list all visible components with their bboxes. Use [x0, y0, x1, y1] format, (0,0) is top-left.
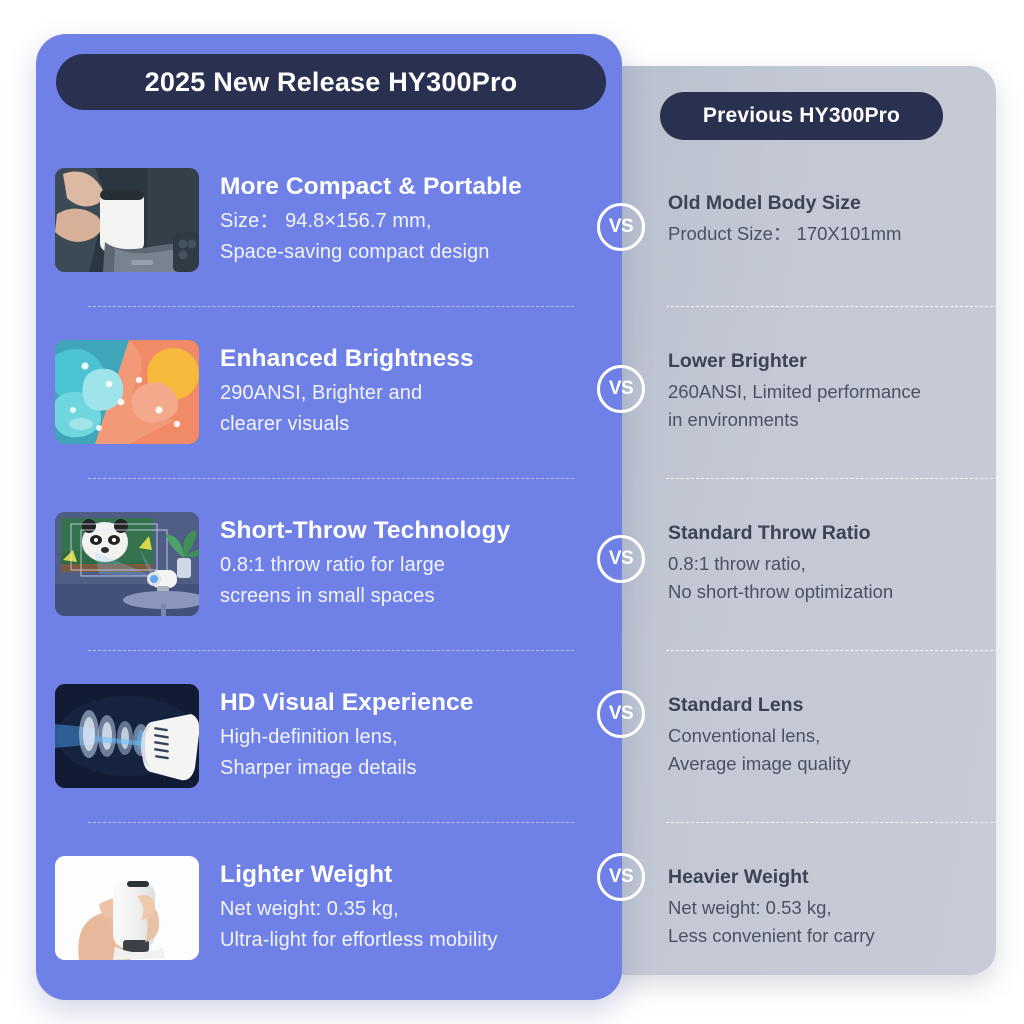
old-row-title: Standard Lens	[668, 694, 988, 717]
previous-model-badge: Previous HY300Pro	[660, 92, 943, 140]
new-row-title: HD Visual Experience	[220, 688, 473, 717]
vs-badge-5: VS	[597, 853, 645, 901]
new-row-text: Enhanced Brightness 290ANSI, Brighter an…	[199, 344, 474, 440]
new-row-line-2: Space-saving compact design	[220, 237, 522, 268]
lens-exploded-view-photo	[55, 684, 199, 788]
old-row-weight: Heavier Weight Net weight: 0.53 kg, Less…	[668, 822, 988, 994]
new-model-badge: 2025 New Release HY300Pro	[56, 54, 606, 110]
vs-badge-label: VS	[609, 216, 633, 238]
colorful-glossy-flowers-photo	[55, 340, 199, 444]
old-row-title: Lower Brighter	[668, 350, 988, 373]
old-row-throw-ratio: Standard Throw Ratio 0.8:1 throw ratio, …	[668, 478, 988, 650]
new-row-text: More Compact & Portable Size： 94.8×156.7…	[199, 172, 522, 268]
vs-badge-3: VS	[597, 535, 645, 583]
new-row-title: Lighter Weight	[220, 860, 498, 889]
new-row-title: Enhanced Brightness	[220, 344, 474, 373]
new-row-text: Short-Throw Technology 0.8:1 throw ratio…	[199, 516, 510, 612]
projector-panda-projection-photo	[55, 512, 199, 616]
old-row-body-size: Old Model Body Size Product Size： 170X10…	[668, 134, 988, 306]
old-row-brightness: Lower Brighter 260ANSI, Limited performa…	[668, 306, 988, 478]
new-row-line-2: screens in small spaces	[220, 581, 510, 612]
new-row-text: Lighter Weight Net weight: 0.35 kg, Ultr…	[199, 860, 498, 956]
new-row-compact: More Compact & Portable Size： 94.8×156.7…	[36, 134, 622, 306]
old-row-line-1: Product Size： 170X101mm	[668, 220, 988, 248]
previous-model-rows: Old Model Body Size Product Size： 170X10…	[668, 134, 988, 994]
new-row-line-2: Sharper image details	[220, 753, 473, 784]
old-row-line-1: Conventional lens,	[668, 722, 988, 750]
new-row-weight: Lighter Weight Net weight: 0.35 kg, Ultr…	[36, 822, 622, 994]
old-row-line-1: Net weight: 0.53 kg,	[668, 894, 988, 922]
old-row-line-1: 260ANSI, Limited performance	[668, 378, 988, 406]
vs-badge-label: VS	[609, 866, 633, 888]
hand-holding-projector-photo	[55, 856, 199, 960]
comparison-infographic: Previous HY300Pro Old Model Body Size Pr…	[0, 0, 1024, 1024]
old-row-line-1: 0.8:1 throw ratio,	[668, 550, 988, 578]
old-row-title: Standard Throw Ratio	[668, 522, 988, 545]
old-row-title: Old Model Body Size	[668, 192, 988, 215]
new-model-rows: More Compact & Portable Size： 94.8×156.7…	[36, 134, 622, 994]
new-row-line-2: clearer visuals	[220, 409, 474, 440]
previous-model-badge-label: Previous HY300Pro	[703, 104, 900, 128]
old-row-line-2: Average image quality	[668, 750, 988, 778]
vs-badge-label: VS	[609, 703, 633, 725]
new-row-line-1: Net weight: 0.35 kg,	[220, 894, 498, 925]
new-row-line-1: High-definition lens,	[220, 722, 473, 753]
old-row-line-2: No short-throw optimization	[668, 578, 988, 606]
vs-badge-label: VS	[609, 548, 633, 570]
old-row-line-2: in environments	[668, 406, 988, 434]
new-model-badge-label: 2025 New Release HY300Pro	[145, 67, 518, 98]
new-row-line-1: Size： 94.8×156.7 mm,	[220, 206, 522, 237]
new-row-hd-lens: HD Visual Experience High-definition len…	[36, 650, 622, 822]
projector-into-bag-photo	[55, 168, 199, 272]
old-row-title: Heavier Weight	[668, 866, 988, 889]
new-row-title: More Compact & Portable	[220, 172, 522, 201]
new-row-text: HD Visual Experience High-definition len…	[199, 688, 473, 784]
new-row-brightness: Enhanced Brightness 290ANSI, Brighter an…	[36, 306, 622, 478]
old-row-lens: Standard Lens Conventional lens, Average…	[668, 650, 988, 822]
new-row-line-1: 290ANSI, Brighter and	[220, 378, 474, 409]
new-row-line-1: 0.8:1 throw ratio for large	[220, 550, 510, 581]
new-row-short-throw: Short-Throw Technology 0.8:1 throw ratio…	[36, 478, 622, 650]
new-row-line-2: Ultra-light for effortless mobility	[220, 925, 498, 956]
old-row-line-2: Less convenient for carry	[668, 922, 988, 950]
new-row-title: Short-Throw Technology	[220, 516, 510, 545]
vs-badge-2: VS	[597, 365, 645, 413]
vs-badge-label: VS	[609, 378, 633, 400]
vs-badge-4: VS	[597, 690, 645, 738]
vs-badge-1: VS	[597, 203, 645, 251]
